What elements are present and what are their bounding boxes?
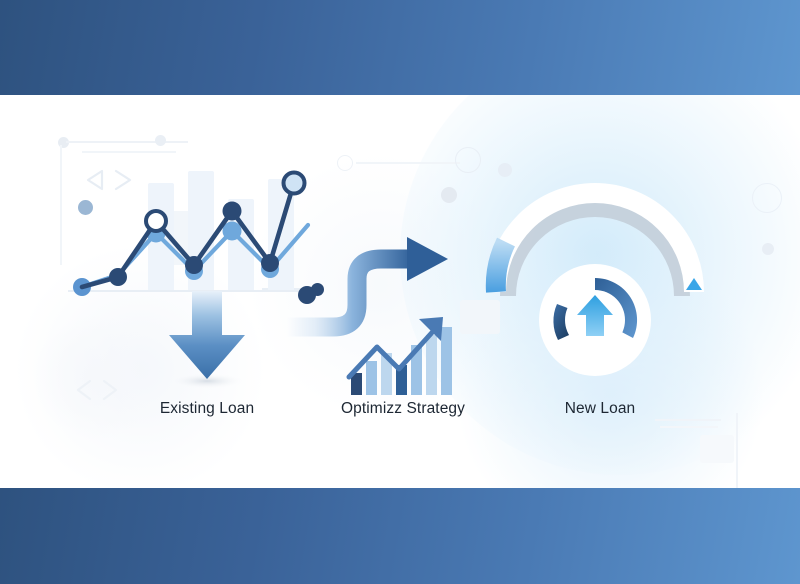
decor-dot-far-right [762,243,774,255]
step-label-existing-loan: Existing Loan [122,400,292,418]
decor-line-right-b [660,426,718,428]
decor-ring-far-right [752,183,782,213]
performance-line-chart [60,145,310,305]
decor-ring-top-mid [337,155,353,171]
decor-line-tl-long [66,141,188,143]
line-chart-svg [60,145,310,305]
top-brand-band [0,0,800,95]
infographic-stage: Existing Loan Optimizz Strategy New Loan [0,0,800,584]
decor-line-right-a [655,419,721,421]
decor-blob-bottom-left [34,315,158,439]
gauge-icon [470,150,720,400]
decor-dot-top-right [441,187,457,203]
decor-square-right-far [700,435,734,463]
bottom-brand-band [0,488,800,584]
growth-chart-icon [345,315,460,395]
step-label-optimize-strategy: Optimizz Strategy [318,400,488,418]
down-arrow-icon [152,285,262,395]
code-bracket-icon-bottom [70,378,124,402]
infographic-canvas: Existing Loan Optimizz Strategy New Loan [0,95,800,488]
gauge-progress-tip [496,242,506,292]
decor-line-top-mid [356,162,460,164]
step-label-new-loan: New Loan [520,400,680,418]
decor-line-right-vertical [736,413,738,488]
